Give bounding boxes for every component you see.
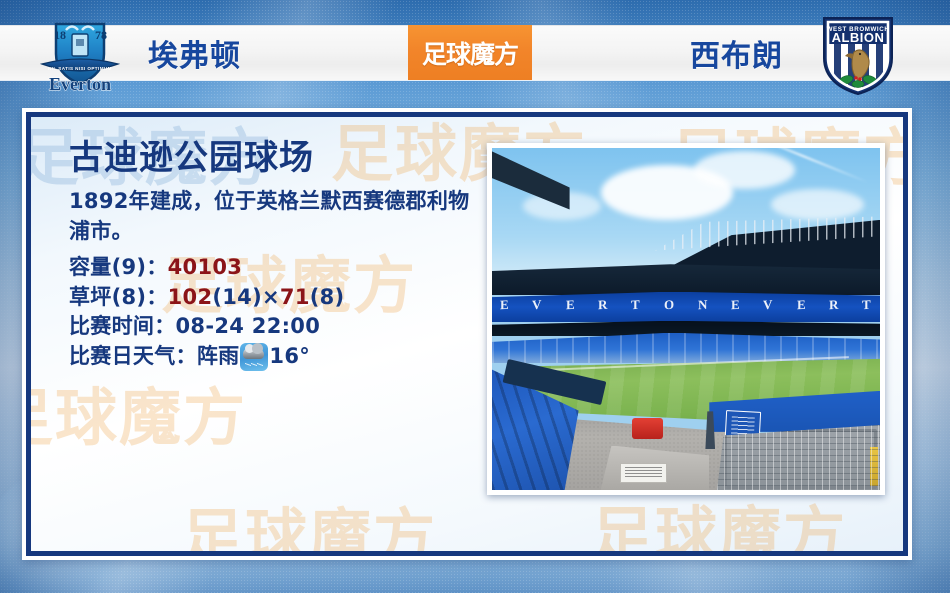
stand-letter: T: [862, 296, 872, 313]
kickoff-separator: ：: [154, 312, 175, 342]
red-equipment-bag: [632, 418, 663, 439]
stand-letter: O: [664, 296, 675, 313]
everton-motto: NIL SATIS NISI OPTIMUM: [48, 66, 112, 71]
stand-letter: R: [829, 296, 839, 313]
main-stand-roof: [492, 264, 880, 295]
watermark-text: 足球魔方: [181, 487, 437, 551]
stadium-info-text: 古迪逊公园球场 1892年建成，位于英格兰默西赛德郡利物浦市。 容量(9) ： …: [69, 139, 489, 372]
home-team-name: 埃弗顿: [148, 25, 241, 80]
fence-frame: [724, 429, 877, 489]
brand-logo-text: 足球魔方: [422, 35, 518, 71]
everton-year-left: 18: [54, 28, 66, 42]
stand-letter: E: [797, 296, 807, 313]
stand-letter: N: [698, 296, 708, 313]
capacity-separator: ：: [146, 253, 167, 283]
capacity-value: 40103: [168, 253, 243, 283]
stand-letter: V: [763, 296, 773, 313]
weather-label: 比赛日天气: [69, 342, 176, 372]
kickoff-row: 比赛时间 ： 08-24 22:00: [69, 312, 489, 342]
pitch-length-rank: (14): [212, 283, 262, 313]
capacity-row: 容量(9) ： 40103: [69, 253, 489, 283]
goodison-park-photo: E V E R T O N E V E R T: [492, 148, 880, 490]
brand-logo-block[interactable]: 足球魔方: [408, 25, 532, 80]
capacity-label: 容量(9): [69, 253, 146, 283]
pitch-size-times: ×: [262, 283, 280, 313]
metal-fence: [717, 425, 880, 490]
rain-cloud-icon: [240, 343, 268, 371]
yellow-marker: [870, 447, 878, 486]
weather-condition: 阵雨: [197, 342, 240, 372]
weather-row: 比赛日天气 ： 阵雨 16°: [69, 342, 489, 372]
notice-sign: [620, 463, 667, 484]
west-bromwich-albion-crest[interactable]: WEST BROMWICH ALBION: [810, 8, 906, 100]
watermark-text: 足球魔方: [31, 367, 247, 457]
cloud-shape: [243, 348, 264, 359]
upper-tier-stand: E V E R T O N E V E R T: [492, 292, 880, 323]
everton-crest[interactable]: 18 78 NIL SATIS NISI OPTIMUM Everton: [32, 8, 128, 100]
cloud-2: [694, 151, 795, 189]
stand-letter: E: [500, 296, 510, 313]
home-team-label: 埃弗顿: [148, 31, 241, 75]
everton-club-name: Everton: [49, 74, 111, 94]
pitch-size-separator: ：: [146, 283, 167, 313]
stadium-info-panel: 足球魔方 足球魔方 足球魔方 足球魔方 足球魔方 足球魔方 足球魔方 足球魔方 …: [22, 108, 912, 560]
stand-letter: T: [631, 296, 641, 313]
pitch-width-rank: (8): [310, 283, 345, 313]
kickoff-label: 比赛时间: [69, 312, 154, 342]
stadium-name: 古迪逊公园球场: [69, 139, 489, 178]
kickoff-value: 08-24 22:00: [176, 312, 321, 342]
everton-year-right: 78: [95, 28, 107, 42]
stand-letter: E: [566, 296, 576, 313]
stand-letter: R: [598, 296, 608, 313]
pitch-size-row: 草坪(8) ： 102 (14) × 71 (8): [69, 283, 489, 313]
away-team-label: 西布朗: [690, 31, 783, 75]
weather-temperature: 16°: [269, 342, 310, 372]
goodison-park-photo-frame[interactable]: E V E R T O N E V E R T: [487, 143, 885, 495]
stadium-info-panel-inner: 足球魔方 足球魔方 足球魔方 足球魔方 足球魔方 足球魔方 足球魔方 足球魔方 …: [26, 112, 908, 556]
pitch-width-value: 71: [280, 283, 310, 313]
cloud-4: [771, 189, 864, 220]
pitch-size-label: 草坪(8): [69, 283, 146, 313]
stand-letter: V: [532, 296, 542, 313]
raindrops-shape: [245, 360, 263, 369]
wba-line2: ALBION: [832, 30, 885, 45]
stand-letter: E: [731, 296, 741, 313]
away-team-name: 西布朗: [690, 25, 783, 80]
everton-crest-svg: 18 78 NIL SATIS NISI OPTIMUM Everton: [32, 8, 128, 100]
weather-separator: ：: [176, 342, 197, 372]
wba-crest-svg: WEST BROMWICH ALBION: [810, 8, 906, 100]
stand-lettering: E V E R T O N E V E R T: [500, 297, 872, 313]
pitch-length-value: 102: [168, 283, 213, 313]
stadium-description: 1892年建成，位于英格兰默西赛德郡利物浦市。: [69, 187, 489, 247]
